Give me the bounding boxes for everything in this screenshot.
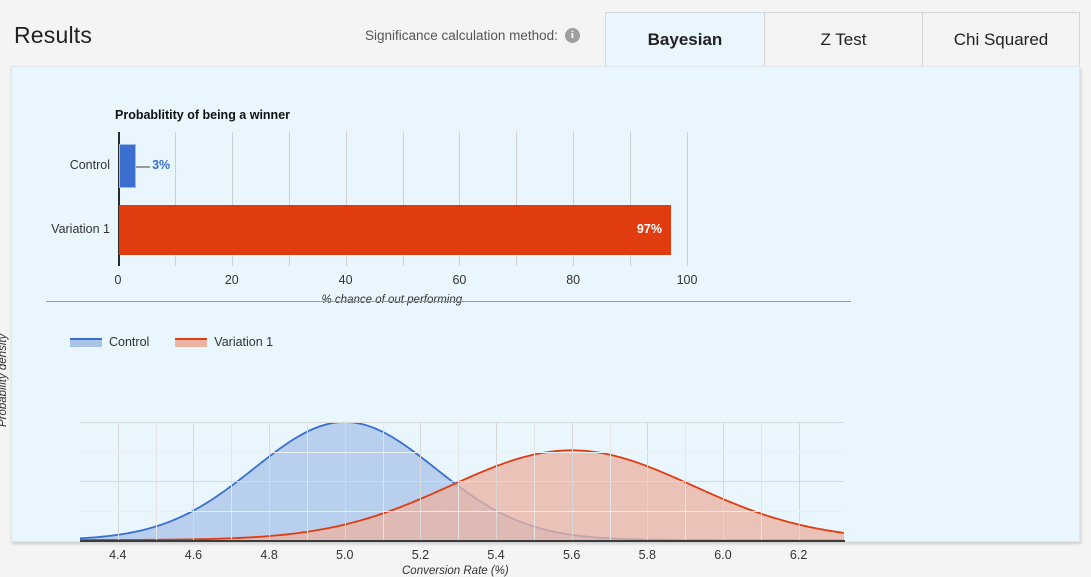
bar-x-axis-label: % chance of out performing <box>322 294 463 306</box>
bar-variation-1[interactable] <box>119 205 671 255</box>
density-x-tick: 6.2 <box>774 548 824 562</box>
bar-category-label: Variation 1 <box>51 222 110 236</box>
results-card: Probablitity of being a winner 3% 97% Co… <box>11 66 1080 542</box>
tab-z-test-label: Z Test <box>821 30 867 50</box>
legend-label-control: Control <box>109 335 149 349</box>
density-gridline-horizontal <box>80 422 844 423</box>
density-legend: Control Variation 1 <box>70 335 273 349</box>
legend-swatch-control <box>70 338 102 347</box>
legend-item-variation-1[interactable]: Variation 1 <box>175 335 273 349</box>
bar-control[interactable] <box>119 144 136 188</box>
bar-category-label: Control <box>70 158 110 172</box>
density-y-axis-label: Probability density <box>0 334 9 427</box>
bar-x-tick: 20 <box>212 273 252 287</box>
tab-bayesian-label: Bayesian <box>648 30 723 50</box>
bar-x-tick: 0 <box>98 273 138 287</box>
bar-x-tick: 100 <box>667 273 707 287</box>
page-header: Results Significance calculation method:… <box>0 0 1091 66</box>
density-x-tick: 6.0 <box>698 548 748 562</box>
bar-plot-area: 3% 97% <box>118 132 687 266</box>
legend-swatch-variation-1 <box>175 338 207 347</box>
bar-chart-title: Probablitity of being a winner <box>115 108 290 122</box>
tab-bayesian[interactable]: Bayesian <box>605 12 765 66</box>
significance-method-label: Significance calculation method: <box>365 28 558 43</box>
section-divider <box>46 301 851 302</box>
conversion-rate-density-chart: Control Variation 1 4.44.64.85.05.25.45.… <box>12 317 1081 543</box>
bar-gridline <box>687 132 688 266</box>
density-plot-area <box>80 422 844 540</box>
density-gridline-horizontal <box>80 452 844 453</box>
density-x-tick: 4.4 <box>93 548 143 562</box>
tab-chi-squared[interactable]: Chi Squared <box>922 12 1080 66</box>
legend-item-control[interactable]: Control <box>70 335 149 349</box>
significance-method-group: Significance calculation method: i <box>365 28 580 43</box>
significance-method-tabs: Bayesian Z Test Chi Squared <box>605 12 1080 66</box>
density-x-tick: 5.2 <box>395 548 445 562</box>
tab-chi-squared-label: Chi Squared <box>954 30 1049 50</box>
bar-control-leader-line <box>136 166 150 168</box>
legend-label-variation-1: Variation 1 <box>214 335 273 349</box>
density-x-tick: 5.0 <box>320 548 370 562</box>
bar-control-value: 3% <box>152 158 170 172</box>
density-gridline-horizontal <box>80 511 844 512</box>
density-gridline-horizontal <box>80 481 844 482</box>
density-x-tick: 5.8 <box>622 548 672 562</box>
density-x-tick: 4.6 <box>168 548 218 562</box>
info-icon[interactable]: i <box>565 28 580 43</box>
density-x-axis-line <box>80 540 845 542</box>
bar-x-tick: 40 <box>326 273 366 287</box>
density-x-tick: 5.6 <box>547 548 597 562</box>
winner-probability-bar-chart: Probablitity of being a winner 3% 97% Co… <box>12 67 1081 299</box>
bar-variation-1-value: 97% <box>637 222 662 236</box>
bar-x-tick: 80 <box>553 273 593 287</box>
bar-x-tick: 60 <box>439 273 479 287</box>
density-x-tick: 4.8 <box>244 548 294 562</box>
density-x-tick: 5.4 <box>471 548 521 562</box>
density-x-axis-label: Conversion Rate (%) <box>402 565 509 577</box>
page-title: Results <box>14 22 92 49</box>
tab-z-test[interactable]: Z Test <box>764 12 923 66</box>
